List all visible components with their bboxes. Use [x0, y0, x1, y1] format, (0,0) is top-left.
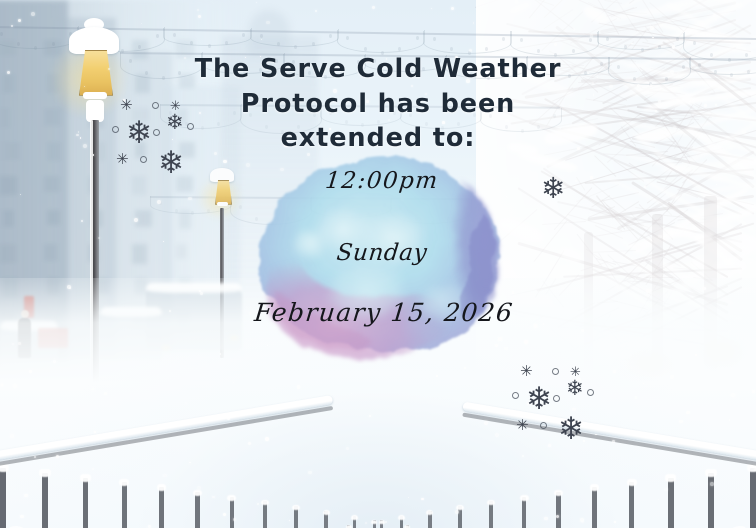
snow-speck: [233, 382, 234, 383]
snowflake-icon: ❄: [526, 384, 552, 415]
railing-post: [750, 468, 756, 528]
snow-speck: [13, 384, 17, 388]
announcement-details: 12:00pm Sunday February 15, 2026: [248, 168, 516, 327]
railing-post: [629, 482, 634, 528]
snow-speck: [369, 415, 371, 417]
snow-speck: [257, 503, 259, 505]
snowflake-dot: [512, 392, 519, 399]
light-bulb: [346, 36, 349, 40]
railing-post-snow: [379, 520, 385, 524]
light-bulb: [190, 41, 193, 45]
light-bulb: [225, 41, 228, 45]
snowflake-icon: ✳: [120, 98, 133, 113]
announcement-time: 12:00pm: [247, 168, 518, 194]
snow-speck: [351, 393, 352, 394]
light-bulb: [693, 41, 696, 45]
snowflake-icon: ✳: [520, 364, 533, 379]
snow-speck: [197, 486, 201, 490]
railing-post: [592, 487, 597, 528]
snowflake-dot: [553, 395, 560, 402]
light-bulb: [416, 36, 419, 40]
light-bulb: [658, 45, 661, 49]
railing-post: [83, 478, 88, 528]
snow-speck: [464, 367, 466, 369]
snowflake-dot: [153, 129, 160, 136]
lamp-bracket: [217, 202, 228, 206]
lamp-snow-cap: [69, 27, 119, 54]
railing-post: [263, 501, 267, 528]
snow-speck: [495, 433, 499, 437]
snow-speck: [672, 45, 676, 49]
snow-speck: [524, 340, 528, 344]
railing-post: [556, 492, 561, 528]
snow-speck: [104, 392, 107, 395]
building-window: [47, 210, 60, 225]
railing-post-snow: [590, 484, 600, 491]
light-bulb: [312, 42, 315, 46]
snow-speck: [163, 474, 167, 478]
snowflake-dot: [540, 422, 547, 429]
snow-speck: [20, 515, 24, 519]
building-window: [132, 176, 146, 195]
snow-speck: [484, 421, 488, 425]
snow-speck: [612, 440, 615, 443]
snowflake-dot: [587, 389, 594, 396]
building-window: [0, 176, 17, 195]
light-bulb: [0, 32, 3, 36]
railing-post: [0, 468, 6, 528]
snow-speck: [106, 449, 107, 450]
snow-speck: [713, 14, 716, 17]
light-bulb: [502, 37, 505, 41]
snow-speck: [548, 444, 551, 447]
railing-post-snow: [398, 515, 405, 520]
railing-bar: [462, 413, 756, 468]
snow-speck: [169, 310, 171, 312]
snow-clump: [508, 1, 530, 15]
light-bulb: [242, 33, 245, 37]
announcement-date: February 15, 2026: [250, 298, 517, 327]
light-bulb: [175, 209, 178, 213]
snowflake-icon: ❄: [166, 112, 184, 133]
railing-post-snow: [487, 500, 495, 506]
railing-post-snow: [705, 469, 716, 477]
snow-speck: [515, 0, 518, 3]
railing-post: [708, 473, 714, 528]
snow-speck: [69, 287, 71, 289]
snow-speck: [573, 28, 576, 31]
snowflake-dot: [112, 126, 119, 133]
light-festoon: [423, 31, 512, 54]
headline-line-1: The Serve Cold Weather: [0, 52, 756, 87]
railing-post-snow: [426, 510, 433, 515]
light-bulb: [156, 34, 159, 38]
railing-post-snow: [227, 495, 236, 501]
railing-post: [195, 492, 200, 528]
snow-speck: [436, 375, 438, 377]
railing-post-snow: [261, 500, 269, 506]
snow-speck: [644, 186, 646, 188]
railing-post: [159, 487, 164, 528]
snow-speck: [554, 43, 557, 46]
building-window: [176, 244, 187, 259]
railing-post-snow: [627, 479, 637, 486]
snow-speck: [98, 237, 100, 239]
snow-speck: [543, 323, 545, 325]
railing-bar: [0, 406, 333, 468]
light-bulb: [260, 34, 263, 38]
snow-speck: [1, 384, 3, 386]
snow-speck: [265, 437, 269, 441]
railing-post-snow: [39, 469, 50, 477]
railing-snow-cap: [0, 395, 333, 462]
snow-speck: [385, 521, 387, 523]
light-bulb: [52, 42, 55, 46]
railing-post: [42, 473, 48, 528]
snow-speck: [29, 370, 32, 373]
light-bulb: [433, 37, 436, 41]
snow-speck: [670, 375, 673, 378]
headline-line-2: Protocol has been: [0, 87, 756, 122]
snowflake-icon: ✳: [116, 152, 129, 167]
snow-speck: [261, 39, 263, 41]
snowflake-icon: ✳: [516, 418, 529, 433]
light-bulb: [450, 47, 453, 51]
light-bulb: [520, 38, 523, 42]
snow-speck: [534, 231, 537, 234]
light-bulb: [589, 38, 592, 42]
light-bulb: [173, 33, 176, 37]
building-window: [44, 176, 59, 192]
railing-post-snow: [157, 484, 167, 491]
railing-post-snow: [80, 474, 91, 481]
snow-speck: [134, 218, 138, 222]
light-bulb: [364, 47, 367, 51]
light-bulb: [676, 37, 679, 41]
railing-post-snow: [193, 490, 202, 496]
snow-speck: [11, 25, 13, 27]
light-bulb: [208, 44, 211, 48]
snow-speck: [372, 6, 375, 9]
railing-post-snow: [554, 490, 563, 496]
railing-post-snow: [119, 479, 129, 486]
building-window: [0, 244, 16, 263]
winter-announcement-poster: The Serve Cold Weather Protocol has been…: [0, 0, 756, 528]
snow-speck: [56, 455, 59, 458]
light-bulb: [138, 45, 141, 49]
snow-speck: [556, 515, 559, 518]
railing-post-snow: [292, 505, 300, 510]
railing-post: [230, 497, 234, 528]
snow-speck: [590, 176, 593, 179]
snowflake-dot: [552, 368, 559, 375]
railing-post-snow: [665, 474, 676, 481]
light-bulb: [277, 42, 280, 46]
light-bulb: [17, 42, 20, 46]
light-bulb: [329, 34, 332, 38]
snow-speck: [635, 396, 637, 398]
snow-speck: [686, 411, 690, 415]
snow-speck: [731, 393, 735, 397]
snowflake-icon: ❄: [566, 378, 584, 399]
snowflake-dot: [187, 123, 194, 130]
snow-speck: [198, 15, 201, 18]
snowflake-icon: ❄: [126, 118, 152, 149]
railing-post-snow: [351, 515, 358, 520]
snow-speck: [702, 287, 706, 291]
snow-speck: [289, 520, 290, 521]
snow-speck: [10, 434, 14, 438]
railing-post: [522, 497, 526, 528]
snowflake-dot: [152, 102, 159, 109]
light-bulb: [624, 45, 627, 49]
building-window: [132, 244, 147, 264]
snow-clump: [559, 246, 584, 265]
snow-speck: [20, 194, 21, 195]
page-title: The Serve Cold Weather Protocol has been…: [0, 52, 756, 156]
light-bulb: [398, 47, 401, 51]
railing-post: [489, 501, 493, 528]
railing-post: [122, 482, 127, 528]
snow-speck: [544, 517, 548, 521]
light-bulb: [606, 37, 609, 41]
snowflake-dot: [140, 156, 147, 163]
railing-snow-cap: [462, 402, 756, 462]
snow-speck: [308, 399, 310, 401]
railing-post-snow: [520, 495, 529, 501]
building-window: [3, 210, 14, 227]
snow-speck: [617, 429, 621, 433]
light-festoon: [163, 28, 252, 46]
snowflake-icon: ❄: [558, 414, 584, 445]
snow-speck: [646, 289, 650, 293]
snow-speck: [710, 482, 714, 486]
building-window: [44, 244, 57, 261]
snowflake-icon: ❄: [158, 148, 184, 179]
announcement-day: Sunday: [247, 240, 518, 266]
railing-post-snow: [323, 510, 330, 515]
snow-speck: [81, 220, 83, 222]
lamp-snow-cap: [210, 168, 234, 182]
snowflake-icon: ❄: [541, 174, 565, 203]
snow-speck: [157, 200, 161, 204]
railing-post: [668, 478, 673, 528]
light-bulb: [485, 47, 488, 51]
